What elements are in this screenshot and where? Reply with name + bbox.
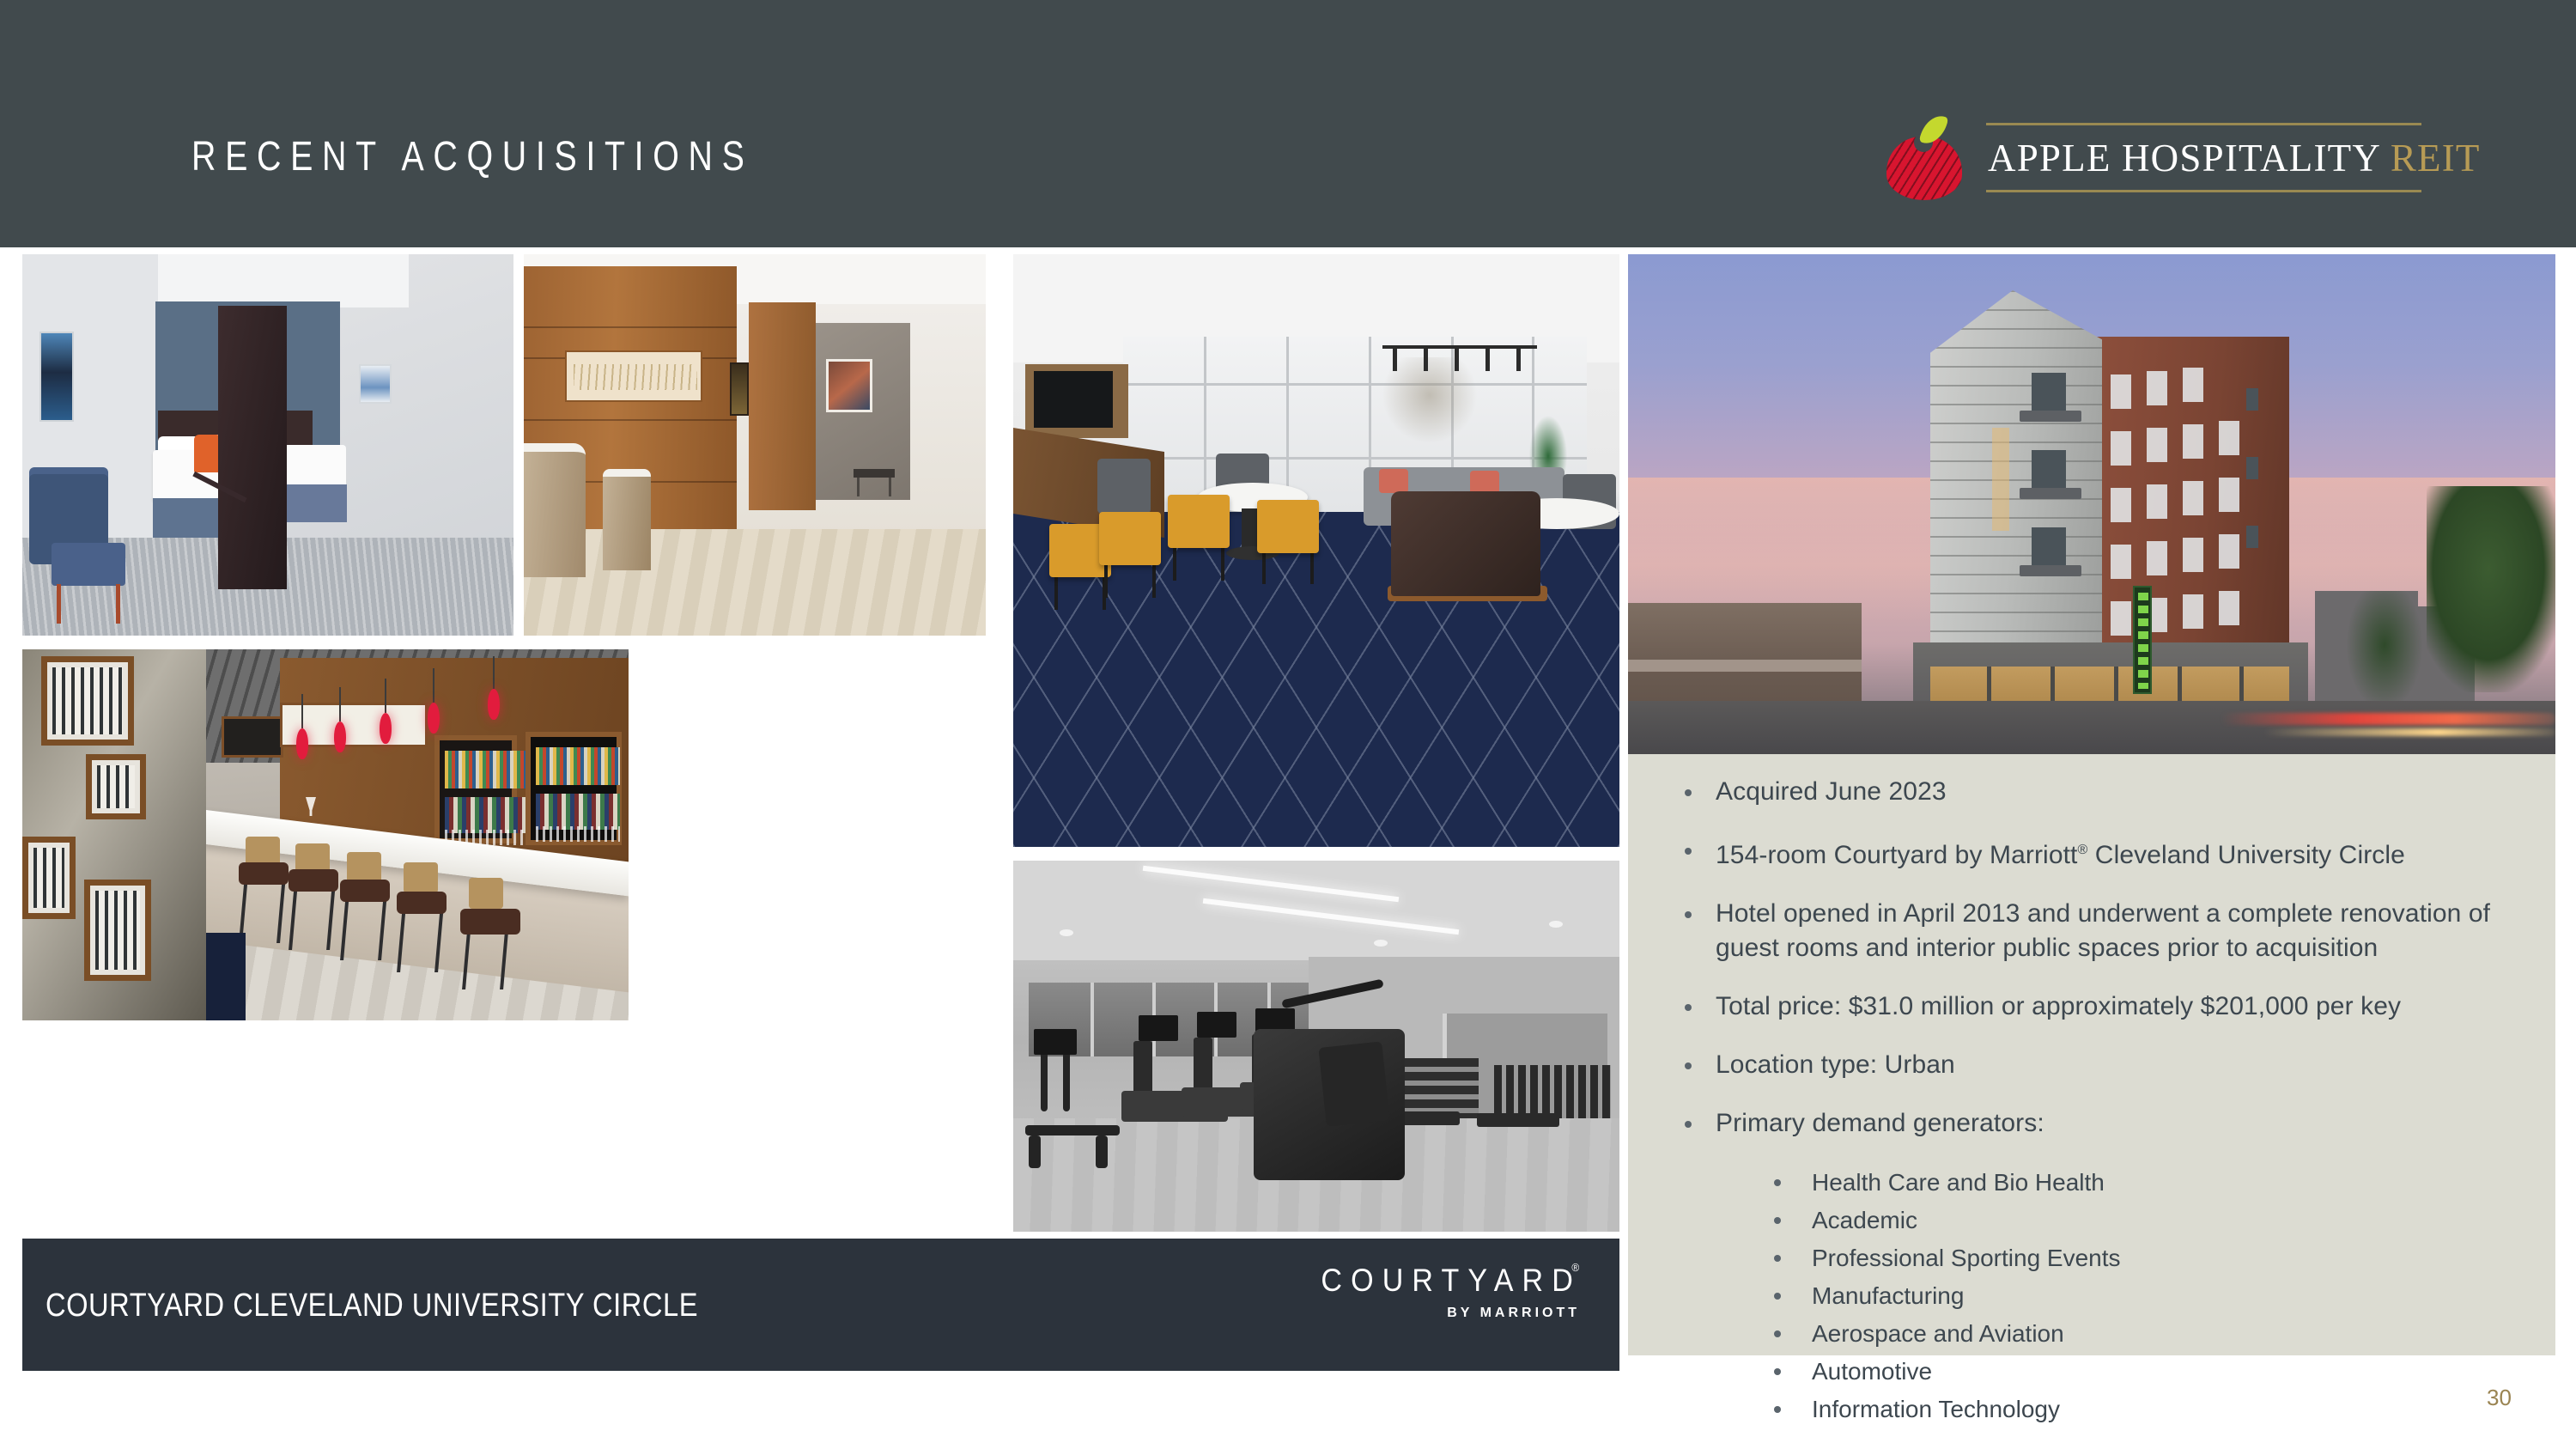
demand-generators-list: Health Care and Bio Health Academic Prof… xyxy=(1669,1165,2537,1427)
fitness-center-photo xyxy=(1013,861,1619,1232)
page-number: 30 xyxy=(2487,1385,2512,1411)
list-item: Professional Sporting Events xyxy=(1669,1240,2537,1275)
bullet-room-count-text-after: Cleveland University Circle xyxy=(2087,841,2405,869)
guestroom-photo xyxy=(22,254,513,636)
registered-mark-icon: ® xyxy=(1571,1261,1588,1274)
acquisition-details-panel: Acquired June 2023 154-room Courtyard by… xyxy=(1628,254,2555,1355)
list-item: Manufacturing xyxy=(1669,1278,2537,1313)
hotel-exterior-photo xyxy=(1628,254,2555,754)
by-marriott-text: BY MARRIOTT xyxy=(1447,1306,1580,1321)
list-item: Health Care and Bio Health xyxy=(1669,1165,2537,1200)
courtyard-wordmark: COURTYARD® xyxy=(1321,1263,1582,1299)
page-title: RECENT ACQUISITIONS xyxy=(191,133,754,180)
lobby-reception-photo xyxy=(524,254,986,636)
list-item: Aerospace and Aviation xyxy=(1669,1316,2537,1351)
photo-gallery xyxy=(22,254,1619,1371)
bar-photo xyxy=(22,649,629,1020)
list-item: Academic xyxy=(1669,1202,2537,1238)
apple-icon xyxy=(1885,114,1964,200)
property-name: COURTYARD CLEVELAND UNIVERSITY CIRCLE xyxy=(46,1288,698,1324)
bullet-renovation: Hotel opened in April 2013 and underwent… xyxy=(1669,897,2537,965)
bullet-acquired-date: Acquired June 2023 xyxy=(1669,775,2537,809)
lounge-photo xyxy=(1013,254,1619,847)
bullet-room-count: 154-room Courtyard by Marriott® Clevelan… xyxy=(1669,833,2537,873)
logo-rule-bottom xyxy=(1986,190,2421,192)
bullet-room-count-text-before: 154-room Courtyard by Marriott xyxy=(1716,841,2077,869)
logo-primary-text: APPLE HOSPITALITY xyxy=(1988,137,2379,180)
bullet-demand-generators: Primary demand generators: xyxy=(1669,1106,2537,1141)
bullet-total-price: Total price: $31.0 million or approximat… xyxy=(1669,989,2537,1024)
apple-hospitality-reit-logo: APPLE HOSPITALITY REIT xyxy=(1885,107,2421,202)
bullet-location-type: Location type: Urban xyxy=(1669,1048,2537,1082)
courtyard-by-marriott-logo: COURTYARD® BY MARRIOTT xyxy=(1302,1263,1585,1330)
list-item: Information Technology xyxy=(1669,1391,2537,1427)
logo-rule-top xyxy=(1986,123,2421,125)
registered-mark-icon: ® xyxy=(2077,843,2087,857)
property-caption-bar: COURTYARD CLEVELAND UNIVERSITY CIRCLE CO… xyxy=(22,1239,1619,1371)
logo-accent-text: REIT xyxy=(2391,137,2481,180)
slide-header: RECENT ACQUISITIONS APPLE HOSPITALITY RE… xyxy=(0,0,2576,247)
bullet-list: Acquired June 2023 154-room Courtyard by… xyxy=(1669,775,2537,1429)
list-item: Automotive xyxy=(1669,1354,2537,1389)
